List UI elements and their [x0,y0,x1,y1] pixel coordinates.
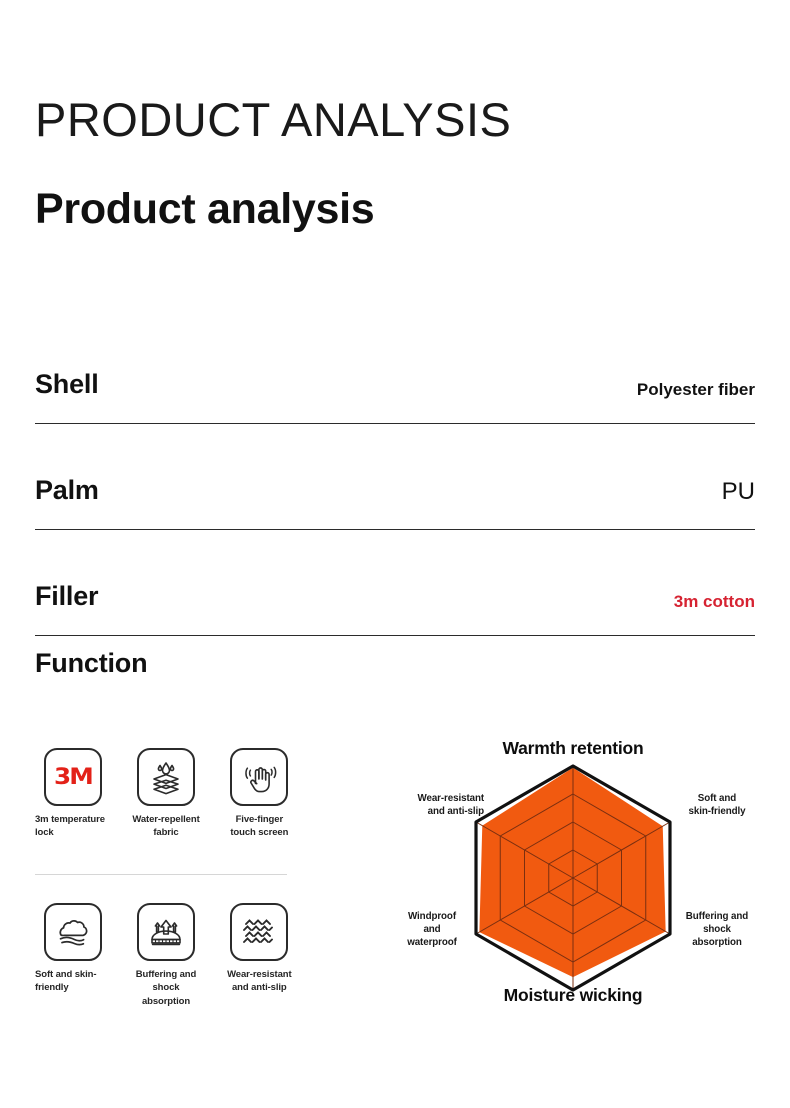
feature-grid-row1: 3M 3m temperature lock Water-repellent f… [35,748,297,840]
product-analysis-page: PRODUCT ANALYSIS Product analysis Shell … [0,0,790,1108]
spec-label: Filler [35,583,98,610]
spec-divider [35,635,755,636]
feature-caption: Buffering and shock absorption [128,968,203,1008]
performance-radar-chart: Warmth retention Moisture wicking Wear-r… [378,732,768,1020]
feature-caption: Five-finger touch screen [222,813,297,840]
page-eyebrow-title: PRODUCT ANALYSIS [35,92,511,147]
radar-axis-label-wear-resistant: Wear-resistantand anti-slip [380,792,484,818]
anti-slip-texture-icon [230,903,288,961]
soft-cloud-icon [44,903,102,961]
feature-water-repellent-fabric: Water-repellent fabric [128,748,203,840]
feature-soft-skin-friendly: Soft and skin-friendly [35,903,110,1008]
spec-label: Palm [35,477,99,504]
spec-value: Polyester fiber [637,381,755,398]
radar-axis-label-buffering-shock: Buffering andshockabsorption [666,910,768,950]
feature-grid-row2: Soft and skin-friendly Buffering and sho… [35,903,297,1008]
feature-3m-temperature-lock: 3M 3m temperature lock [35,748,110,840]
radar-axis-label-windproof-waterproof: Windproofandwaterproof [380,910,484,950]
radar-axis-label-soft-skin-friendly: Soft andskin-friendly [666,792,768,818]
spec-row-filler: Filler 3m cotton [35,530,755,636]
feature-buffering-shock-absorption: Buffering and shock absorption [128,903,203,1008]
3m-logo-text: 3M [54,765,92,790]
shock-absorption-icon [137,903,195,961]
feature-rows-divider [35,874,287,875]
spec-list: Shell Polyester fiber Palm PU Filler 3m … [35,318,755,636]
feature-caption: Wear-resistant and anti-slip [222,968,297,995]
spec-row-shell: Shell Polyester fiber [35,318,755,424]
radar-chart-svg [378,732,768,1020]
page-title: Product analysis [35,185,374,234]
spec-value-highlighted: 3m cotton [674,593,755,610]
spec-value: PU [722,480,755,504]
spec-label: Shell [35,371,99,398]
feature-wear-resistant-anti-slip: Wear-resistant and anti-slip [222,903,297,1008]
feature-five-finger-touch-screen: Five-finger touch screen [222,748,297,840]
radar-axis-label-warmth-retention: Warmth retention [378,737,768,761]
radar-axis-label-moisture-wicking: Moisture wicking [378,984,768,1008]
feature-caption: 3m temperature lock [35,813,110,840]
feature-caption: Soft and skin-friendly [35,968,110,995]
water-repellent-icon [137,748,195,806]
function-heading: Function [35,648,147,679]
feature-caption: Water-repellent fabric [128,813,203,840]
spec-row-palm: Palm PU [35,424,755,530]
five-finger-touch-icon [230,748,288,806]
3m-logo-icon: 3M [44,748,102,806]
